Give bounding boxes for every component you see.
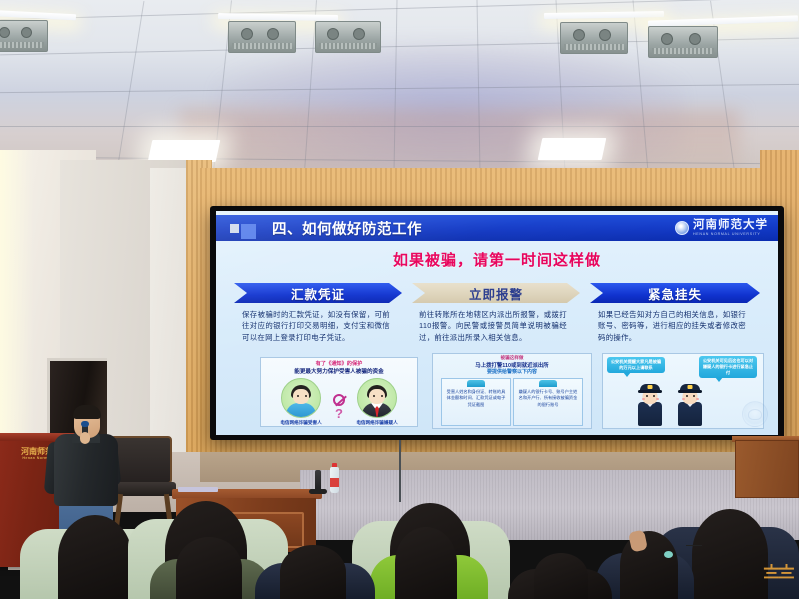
step-body-1: 保存被骗时的汇款凭证，如没有保留，可前往对应的银行打印交易明细，支付宝和微信可以… bbox=[242, 309, 390, 343]
victim-caption: 电信网络诈骗受害人 bbox=[275, 420, 327, 426]
ac-vent-unit bbox=[228, 21, 296, 53]
header-square-light bbox=[230, 224, 239, 233]
ac-vent-unit bbox=[315, 21, 381, 53]
header-square-accent bbox=[241, 224, 256, 239]
illustration-report-steps: 被骗这样做 马上拨打警110或到就近派出所 要提供给警察以下内容 受害人姓名和身… bbox=[432, 353, 592, 429]
side-cabinet bbox=[735, 440, 799, 498]
speaker-hair bbox=[73, 405, 101, 419]
slide: 四、如何做好防范工作 河南师范大学 HENAN NORMAL UNIVERSIT… bbox=[216, 211, 778, 435]
suspect-avatar bbox=[357, 378, 397, 418]
ceiling-strip-light bbox=[648, 15, 798, 26]
recessed-panel-light bbox=[148, 140, 221, 162]
audience-head bbox=[692, 509, 768, 599]
university-name-cn: 河南师范大学 bbox=[693, 220, 768, 232]
ac-vent-unit bbox=[0, 20, 48, 52]
audience-head bbox=[620, 531, 678, 599]
ceiling-strip-light bbox=[544, 11, 664, 19]
step-body-3: 如果已经告知对方自己的相关信息，如银行账号、密码等，进行相应的挂失或者修改密码的… bbox=[598, 309, 746, 343]
eyeglasses bbox=[686, 545, 702, 549]
suspect-caption: 电信网络诈骗嫌疑人 bbox=[351, 420, 403, 426]
step-body-2: 前往转账所在地辖区内派出所报警，或拨打110报警。向民警或接警员简单说明被骗经过… bbox=[419, 309, 567, 343]
report-box-left-text: 受害人姓名和身份证、转账的具体金额和时间、汇款凭证或电子凭证截图 bbox=[445, 389, 507, 408]
lecture-hall-photo: 四、如何做好防范工作 河南师范大学 HENAN NORMAL UNIVERSIT… bbox=[0, 0, 799, 599]
prohibition-icon bbox=[333, 394, 345, 406]
audience-head bbox=[58, 515, 132, 599]
police-officer-figure-right bbox=[675, 384, 705, 426]
recessed-panel-light bbox=[538, 138, 607, 160]
speaker-torso bbox=[54, 434, 118, 506]
step-banner-row: 汇款凭证 立即报警 紧急挂失 bbox=[234, 283, 760, 303]
step-banner-2: 立即报警 bbox=[412, 283, 580, 303]
slide-header-bar: 四、如何做好防范工作 河南师范大学 HENAN NORMAL UNIVERSIT… bbox=[216, 215, 778, 241]
police-bubble-right: 公安机关可见后这也可以对嫌疑人的银行卡进行紧急止付 bbox=[699, 356, 757, 378]
table-paper bbox=[178, 487, 218, 492]
ac-vent-unit bbox=[560, 22, 628, 54]
audience-head bbox=[280, 545, 346, 599]
report-box-right-cap-icon bbox=[539, 380, 557, 387]
speaker-jacket-zipper bbox=[399, 440, 401, 502]
illustration-left-title-pink: 有了《通知》的保护 bbox=[261, 360, 417, 367]
police-bubble-left: 公安机关提醒大家凡是被骗的万元以上请联系 bbox=[607, 357, 665, 373]
report-box-left-cap-icon bbox=[467, 380, 485, 387]
step-banner-3: 紧急挂失 bbox=[590, 283, 760, 303]
photo-watermark-icon: 〨〨 bbox=[763, 558, 793, 583]
victim-avatar bbox=[281, 378, 321, 418]
step-banner-1-label: 汇款凭证 bbox=[291, 284, 345, 303]
police-emblem-watermark bbox=[742, 401, 768, 427]
audience-head bbox=[176, 537, 242, 599]
wall-light-glow bbox=[0, 150, 34, 450]
step-banner-1: 汇款凭证 bbox=[234, 283, 402, 303]
hair-tie bbox=[664, 551, 673, 558]
water-bottle-label bbox=[330, 478, 339, 487]
illustration-victim-suspect: 有了《通知》的保护 能更最大努力保护受害人被骗的资金 电信网络诈骗受害人 ? bbox=[260, 357, 418, 427]
slide-red-headline: 如果被骗，请第一时间这样做 bbox=[216, 249, 778, 270]
table-microphone-base bbox=[309, 489, 327, 494]
ac-vent-unit bbox=[648, 26, 718, 58]
illustration-police-advice: 公安机关提醒大家凡是被骗的万元以上请联系 公安机关可见后这也可以对嫌疑人的银行卡… bbox=[602, 353, 764, 429]
step-banner-3-label: 紧急挂失 bbox=[648, 284, 702, 303]
question-mark-icon: ? bbox=[335, 406, 343, 421]
ceiling bbox=[0, 0, 799, 172]
report-line-3: 要提供给警察以下内容 bbox=[433, 368, 591, 375]
slide-title: 四、如何做好防范工作 bbox=[272, 218, 422, 239]
report-box-right-text: 嫌疑人的银行卡号、账号户主姓名和开户行、所有接收被骗资金的银行账号 bbox=[517, 389, 579, 408]
audience-head bbox=[395, 527, 457, 599]
university-name-en: HENAN NORMAL UNIVERSITY bbox=[693, 233, 768, 237]
university-seal-icon bbox=[675, 221, 689, 235]
university-logo: 河南师范大学 HENAN NORMAL UNIVERSITY bbox=[675, 220, 768, 237]
audience-head bbox=[534, 553, 588, 599]
report-box-right: 嫌疑人的银行卡号、账号户主姓名和开户行、所有接收被骗资金的银行账号 bbox=[513, 378, 583, 426]
presentation-screen: 四、如何做好防范工作 河南师范大学 HENAN NORMAL UNIVERSIT… bbox=[216, 211, 778, 435]
step-banner-2-label: 立即报警 bbox=[469, 284, 523, 303]
illustration-left-title-blue: 能更最大努力保护受害人被骗的资金 bbox=[261, 367, 417, 375]
speaker-hand bbox=[80, 432, 90, 444]
police-officer-figure-left bbox=[635, 384, 665, 426]
report-box-left: 受害人姓名和身份证、转账的具体金额和时间、汇款凭证或电子凭证截图 bbox=[441, 378, 511, 426]
ceiling-strip-light bbox=[218, 13, 338, 21]
